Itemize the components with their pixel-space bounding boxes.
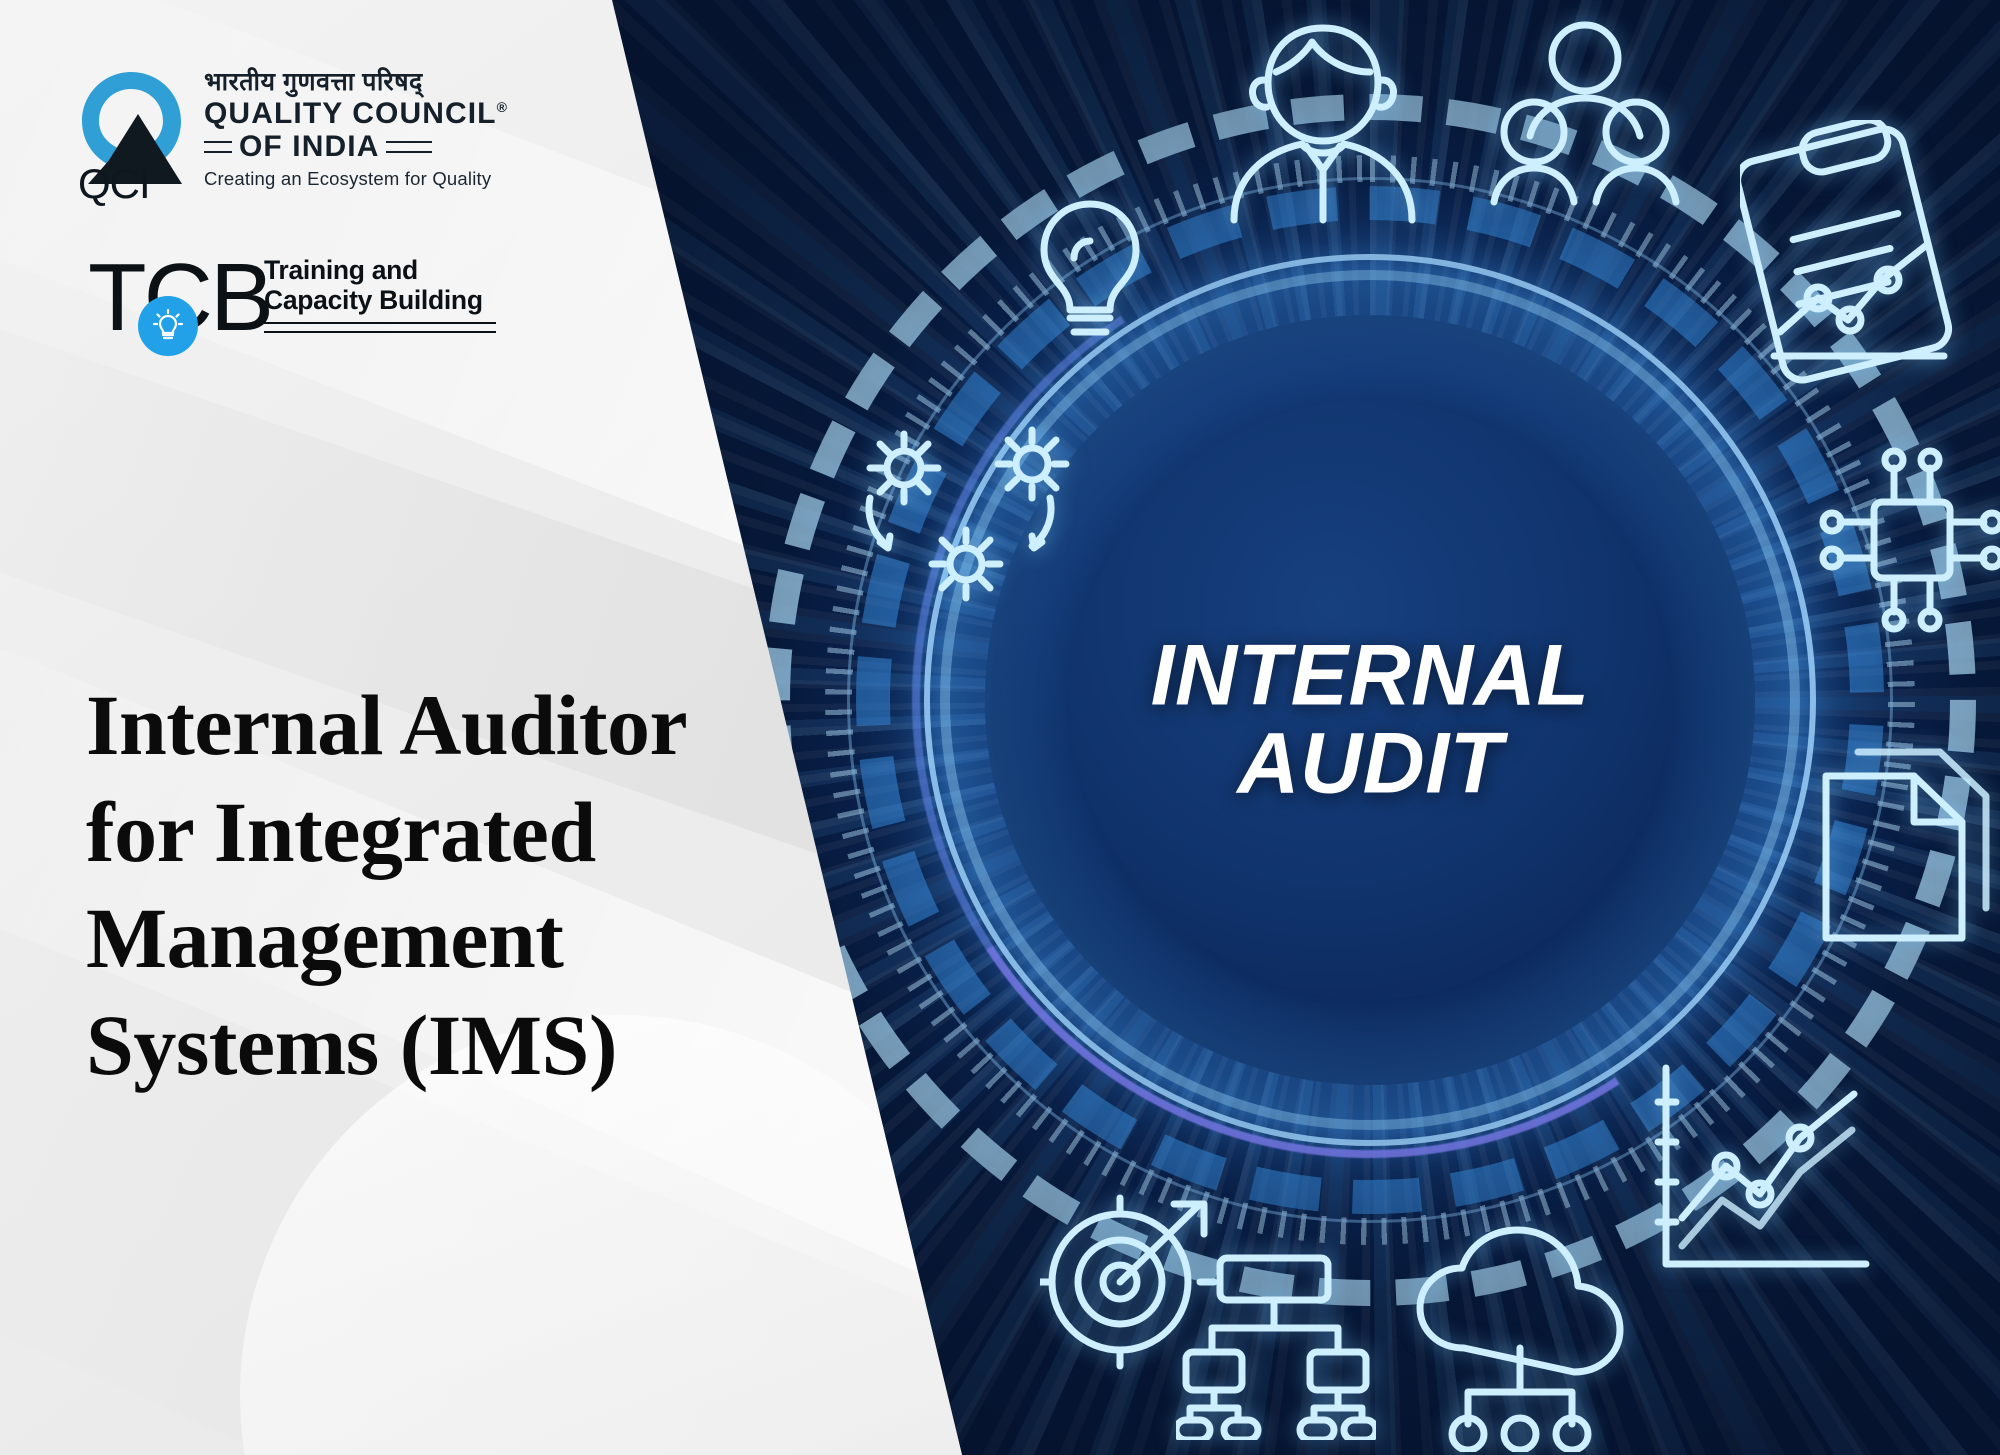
hero-label-line2: AUDIT (1151, 720, 1590, 808)
qci-line1-text: QUALITY COUNCIL (204, 97, 497, 130)
qci-hindi-text: भारतीय गुणवत्ता परिषद् (204, 70, 544, 95)
tcb-line2: Capacity Building (264, 286, 504, 316)
qci-rule-left (204, 141, 232, 153)
qci-tagline: Creating an Ecosystem for Quality (204, 168, 544, 190)
tcb-bulb-badge (138, 296, 198, 356)
documents-stack-icon (1798, 746, 1998, 966)
page-title-line-1: Internal Auditor (86, 672, 846, 779)
hero-center-label: INTERNAL AUDIT (1151, 632, 1590, 807)
cloud-network-icon (1410, 1222, 1630, 1452)
page-title-line-2: for Integrated (86, 779, 846, 886)
org-chart-icon (1176, 1250, 1376, 1440)
gears-cycle-icon (856, 420, 1086, 610)
qci-logo: भारतीय गुणवत्ता परिषद् QUALITY COUNCIL® … (76, 68, 546, 208)
qci-abbreviation: QCI (78, 160, 150, 208)
slide-root: INTERNAL AUDIT (0, 0, 2000, 1455)
clipboard-chart-icon (1740, 120, 1970, 390)
lightbulb-badge-icon (151, 309, 185, 343)
person-user-icon (1218, 10, 1428, 225)
bar-chart-icon (1636, 1050, 1886, 1300)
page-title-line-3: Management (86, 885, 846, 992)
page-title: Internal Auditor for Integrated Manageme… (86, 672, 846, 1099)
lightbulb-icon (1030, 196, 1150, 346)
qci-registered-mark: ® (497, 99, 508, 115)
tcb-logo: TCB Training and Capacity Building (88, 250, 508, 350)
tcb-underline (264, 322, 496, 333)
tcb-wordmark: Training and Capacity Building (264, 256, 504, 333)
qci-wordmark: भारतीय गुणवत्ता परिषद् QUALITY COUNCIL® … (204, 70, 544, 190)
qci-line1: QUALITY COUNCIL® (204, 98, 544, 130)
hero-label-line1: INTERNAL (1151, 632, 1590, 720)
circuit-chip-icon (1812, 440, 2000, 640)
page-title-line-4: Systems (IMS) (86, 992, 846, 1099)
qci-line2-row: OF INDIA (204, 132, 544, 162)
qci-line2: OF INDIA (239, 132, 379, 162)
qci-rule-right (386, 141, 432, 153)
people-group-icon (1490, 16, 1680, 206)
tcb-line1: Training and (264, 256, 504, 286)
